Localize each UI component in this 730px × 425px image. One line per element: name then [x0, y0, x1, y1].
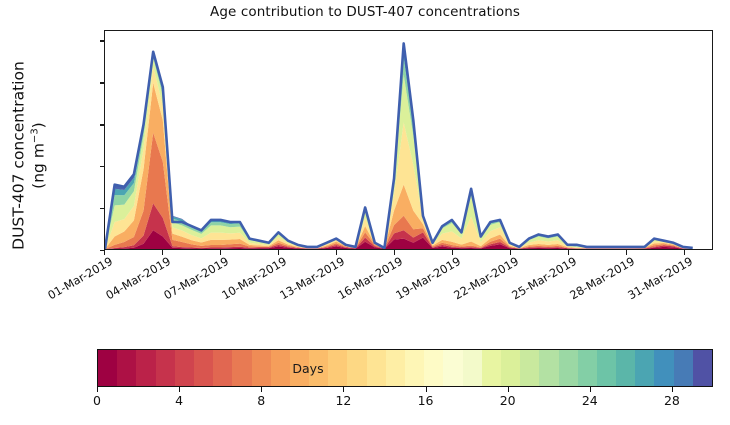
colorbar-tick-label: 20 [500, 393, 516, 408]
colorbar-band [424, 350, 443, 386]
colorbar-band [175, 350, 194, 386]
plot-area [104, 30, 713, 250]
colorbar-band [405, 350, 424, 386]
colorbar-tick-mark [590, 387, 591, 392]
y-tick-mark [100, 166, 105, 167]
colorbar-band [367, 350, 386, 386]
colorbar-band [693, 350, 712, 386]
y-tick-mark [100, 82, 105, 83]
y-tick-mark [100, 124, 105, 125]
colorbar-band [98, 350, 117, 386]
colorbar-tick-label: 8 [257, 393, 265, 408]
colorbar-band [136, 350, 155, 386]
colorbar-band [117, 350, 136, 386]
colorbar-tick-mark [343, 387, 344, 392]
colorbar-tick-label: 4 [175, 393, 183, 408]
colorbar-band [156, 350, 175, 386]
colorbar-band [674, 350, 693, 386]
colorbar-band [309, 350, 328, 386]
colorbar-band [290, 350, 309, 386]
colorbar-band [232, 350, 251, 386]
colorbar-tick-mark [261, 387, 262, 392]
colorbar-band [482, 350, 501, 386]
colorbar-band [194, 350, 213, 386]
colorbar-band [539, 350, 558, 386]
colorbar-band [501, 350, 520, 386]
colorbar-tick-mark [508, 387, 509, 392]
colorbar-band [616, 350, 635, 386]
figure: Age contribution to DUST-407 concentrati… [0, 0, 730, 425]
colorbar-tick-mark [426, 387, 427, 392]
colorbar[interactable] [97, 349, 713, 387]
colorbar-tick-mark [672, 387, 673, 392]
colorbar-tick-mark [97, 387, 98, 392]
colorbar-band [347, 350, 366, 386]
colorbar-tick-label: 24 [582, 393, 598, 408]
chart-title: Age contribution to DUST-407 concentrati… [0, 4, 730, 20]
colorbar-tick-label: 16 [418, 393, 434, 408]
colorbar-band [463, 350, 482, 386]
colorbar-band [520, 350, 539, 386]
colorbar-band [559, 350, 578, 386]
y-axis-label-exponent: −3 [30, 128, 41, 143]
colorbar-band [252, 350, 271, 386]
colorbar-tick-label: 28 [664, 393, 680, 408]
colorbar-band [597, 350, 616, 386]
stacked-area-plot [105, 31, 712, 249]
colorbar-tick-mark [179, 387, 180, 392]
y-tick-mark [100, 208, 105, 209]
y-axis-label: DUST-407 concentration (ng m−3) [8, 31, 49, 281]
y-axis-label-line1: DUST-407 concentration [9, 61, 27, 250]
colorbar-band [578, 350, 597, 386]
colorbar-band [328, 350, 347, 386]
colorbar-tick-label: 12 [335, 393, 351, 408]
colorbar-band [654, 350, 673, 386]
colorbar-band [443, 350, 462, 386]
colorbar-band [213, 350, 232, 386]
colorbar-band [271, 350, 290, 386]
colorbar-band [386, 350, 405, 386]
y-axis-label-line2: (ng m−3) [29, 31, 50, 281]
y-tick-mark [100, 40, 105, 41]
colorbar-tick-label: 0 [93, 393, 101, 408]
colorbar-band [635, 350, 654, 386]
